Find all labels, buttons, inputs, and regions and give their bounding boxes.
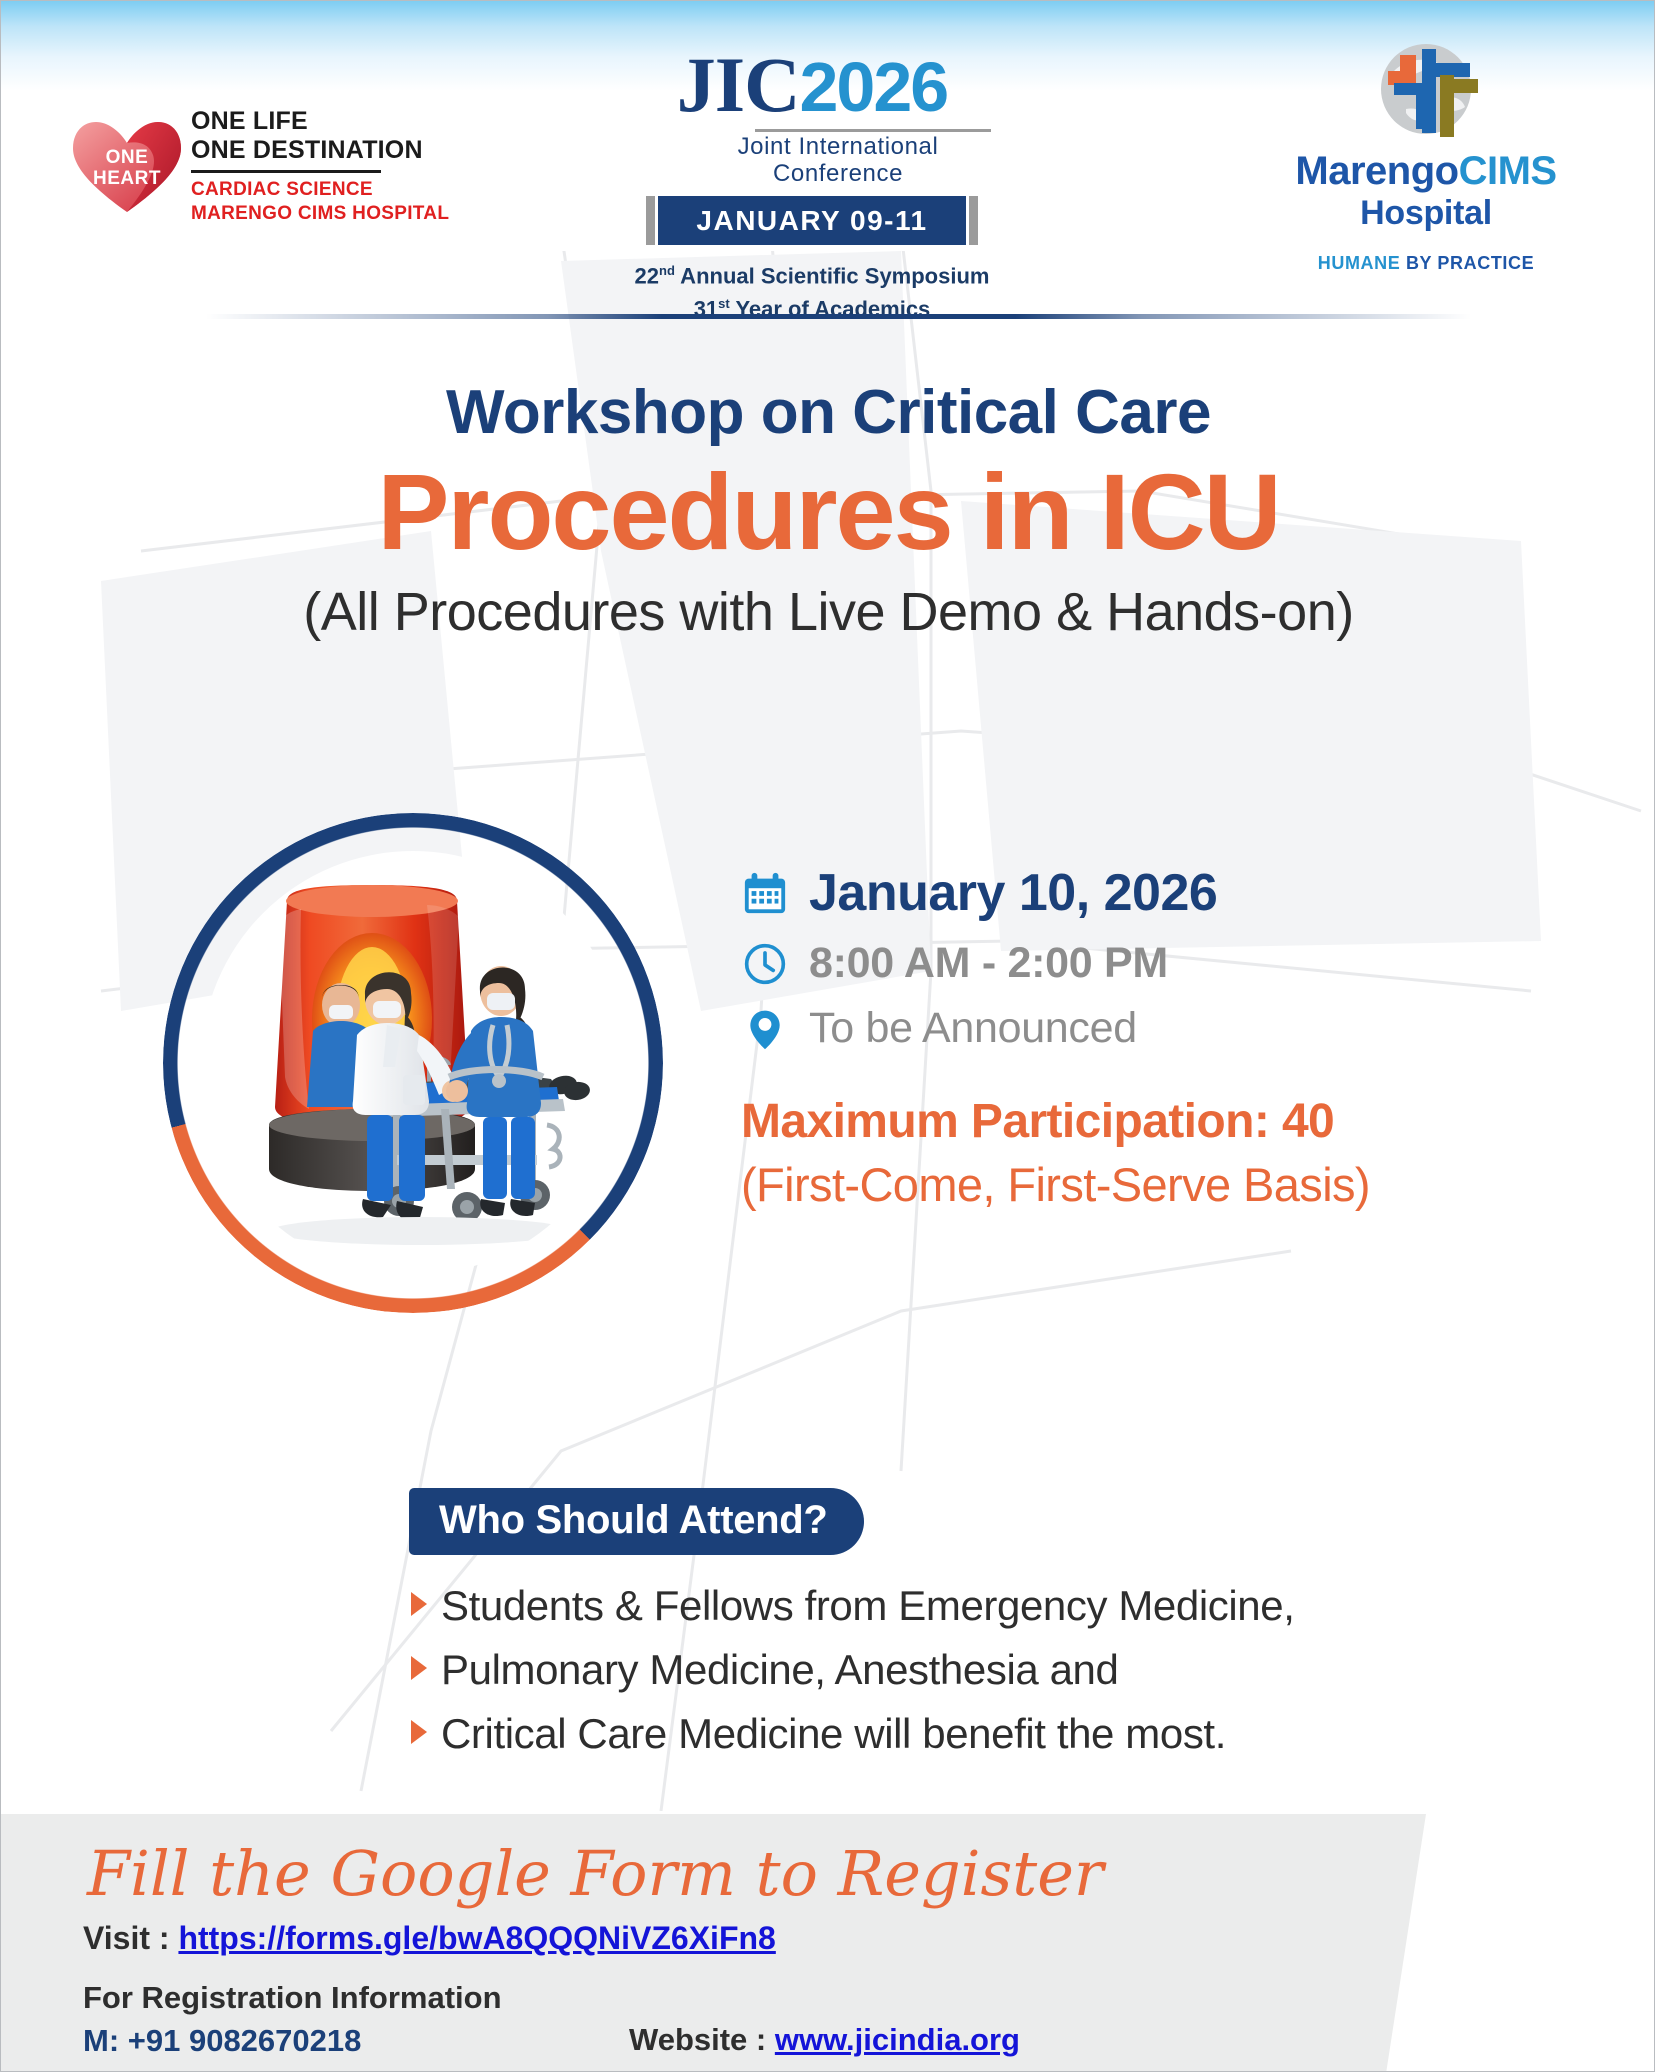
jic-year: 2026 (799, 48, 947, 126)
event-venue: To be Announced (809, 1004, 1137, 1053)
heart-icon: ONE HEART (73, 119, 181, 215)
google-form-link[interactable]: https://forms.gle/bwA8QQQNiVZ6XiFn8 (178, 1920, 775, 1956)
visit-line: Visit : https://forms.gle/bwA8QQQNiVZ6Xi… (83, 1920, 776, 1957)
website-link[interactable]: www.jicindia.org (775, 2022, 1020, 2057)
jic-wordmark: JIC2026 (627, 45, 997, 127)
one-heart-divider (191, 170, 381, 173)
hero-image (163, 813, 663, 1313)
header-divider (206, 314, 1471, 319)
hospital-label: Hospital (1276, 193, 1576, 233)
one-destination-label: ONE DESTINATION (191, 136, 449, 165)
title-block: Workshop on Critical Care Procedures in … (1, 376, 1655, 644)
jic-band-bar-right (969, 196, 978, 245)
marengo-cross-globe-icon (1366, 37, 1486, 147)
arrow-bullet-icon (409, 1719, 431, 1750)
emergency-siren-illustration (191, 839, 635, 1287)
max-participation: Maximum Participation: 40 (First-Come, F… (741, 1093, 1561, 1215)
cims-label: CIMS (1459, 149, 1557, 193)
max-participation-note: (First-Come, First-Serve Basis) (741, 1155, 1561, 1215)
detail-row-venue: To be Announced (741, 1004, 1561, 1053)
clock-icon (741, 940, 789, 988)
arrow-bullet-icon (409, 1591, 431, 1622)
contact-mobile: M: +91 9082670218 (83, 2023, 361, 2059)
event-details: January 10, 2026 8:00 AM - 2:00 PM To be… (741, 863, 1561, 1215)
list-item: Pulmonary Medicine, Anesthesia and (409, 1641, 1409, 1699)
register-heading: Fill the Google Form to Register (87, 1839, 1104, 1909)
jic-conference-logo: JIC2026 Joint International Conference J… (627, 45, 997, 324)
max-participation-value: Maximum Participation: 40 (741, 1095, 1334, 1148)
registration-info-label: For Registration Information (83, 1980, 502, 2016)
list-item: Critical Care Medicine will benefit the … (409, 1705, 1409, 1763)
jic-band-bar-left (646, 196, 655, 245)
marengo-tagline: HUMANE BY PRACTICE (1276, 253, 1576, 274)
poster-header: ONE HEART ONE LIFE ONE DESTINATION CARDI… (1, 1, 1655, 301)
who-should-attend-section: Who Should Attend? Students & Fellows fr… (409, 1488, 1409, 1769)
attend-item-label: Critical Care Medicine will benefit the … (441, 1705, 1226, 1763)
tagline-by-practice: BY PRACTICE (1406, 253, 1534, 273)
jic-letters: JIC (677, 41, 800, 128)
poster-canvas: ONE HEART ONE LIFE ONE DESTINATION CARDI… (0, 0, 1655, 2072)
tagline-humane: HUMANE (1318, 253, 1406, 273)
who-should-attend-badge: Who Should Attend? (409, 1488, 864, 1555)
attend-item-label: Pulmonary Medicine, Anesthesia and (441, 1641, 1118, 1699)
marengo-cims-logo: MarengoCIMS Hospital HUMANE BY PRACTICE (1276, 37, 1576, 274)
calendar-icon (741, 869, 789, 917)
list-item: Students & Fellows from Emergency Medici… (409, 1577, 1409, 1635)
event-time: 8:00 AM - 2:00 PM (809, 939, 1168, 988)
detail-row-date: January 10, 2026 (741, 863, 1561, 923)
one-life-label: ONE LIFE (191, 107, 449, 136)
heart-logo-text: ONE HEART (73, 147, 181, 189)
location-pin-icon (741, 1005, 789, 1053)
visit-label: Visit : (83, 1920, 178, 1956)
footer-section: Fill the Google Form to Register Visit :… (1, 1814, 1655, 2072)
attend-item-label: Students & Fellows from Emergency Medici… (441, 1577, 1294, 1635)
symposium-line: 22nd Annual Scientific Symposium (627, 257, 997, 290)
jic-rule (755, 129, 991, 132)
website-label: Website : (629, 2022, 775, 2057)
marengo-label: Marengo (1295, 149, 1458, 193)
jic-date-label: JANUARY 09-11 (658, 196, 965, 245)
one-heart-logo: ONE HEART ONE LIFE ONE DESTINATION CARDI… (73, 107, 449, 226)
marengo-cims-hospital-label: MARENGO CIMS HOSPITAL (191, 202, 449, 226)
arrow-bullet-icon (409, 1655, 431, 1686)
page-title: Procedures in ICU (1, 452, 1655, 572)
workshop-subtitle: Workshop on Critical Care (1, 376, 1655, 450)
event-date: January 10, 2026 (809, 863, 1217, 923)
jic-subtitle: Joint International Conference (679, 133, 997, 187)
website-line: Website : www.jicindia.org (629, 2022, 1020, 2058)
title-note: (All Procedures with Live Demo & Hands-o… (1, 580, 1655, 644)
attend-list: Students & Fellows from Emergency Medici… (409, 1577, 1409, 1763)
jic-date-band: JANUARY 09-11 (627, 196, 997, 245)
one-heart-text-block: ONE LIFE ONE DESTINATION CARDIAC SCIENCE… (191, 107, 449, 226)
cardiac-science-label: CARDIAC SCIENCE (191, 178, 449, 202)
detail-row-time: 8:00 AM - 2:00 PM (741, 939, 1561, 988)
marengo-wordmark: MarengoCIMS (1276, 149, 1576, 193)
